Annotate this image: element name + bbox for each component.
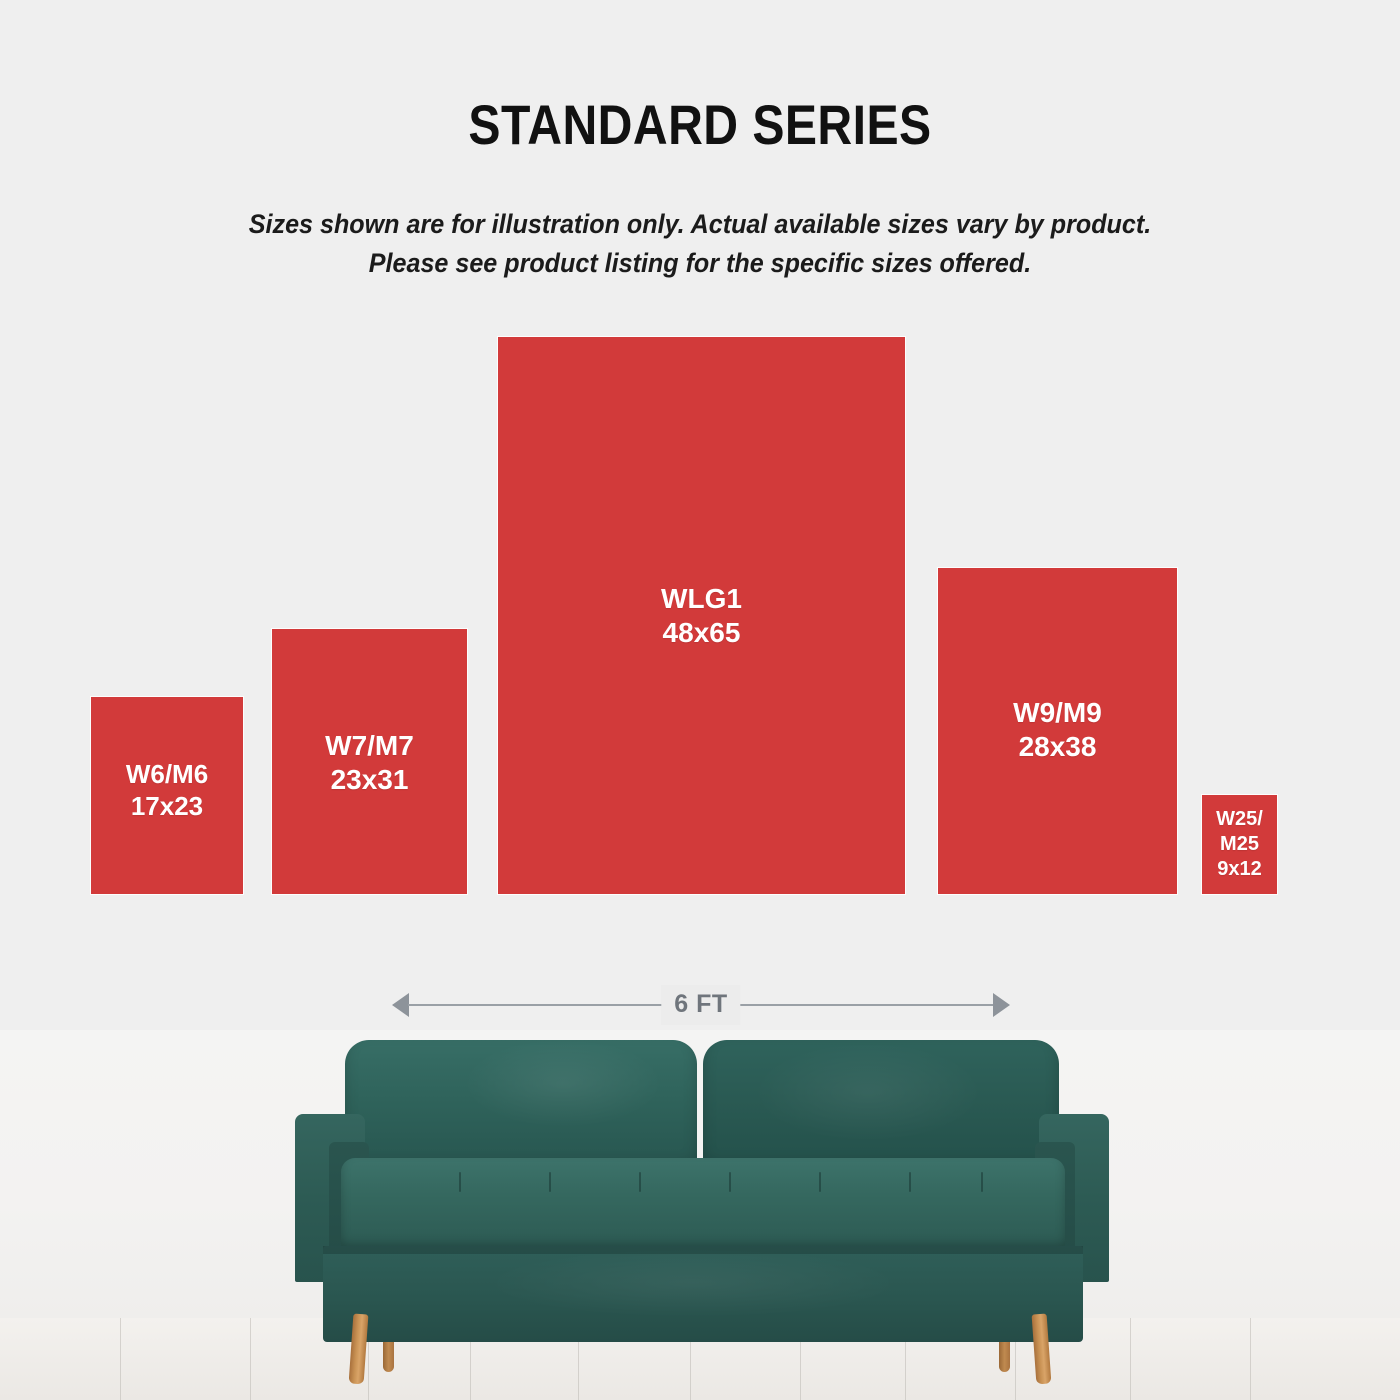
sofa-back-cushion-left <box>345 1040 697 1172</box>
size-comparison-graphic: STANDARD SERIES Sizes shown are for illu… <box>0 0 1400 1400</box>
size-panel-code: W9/M9 <box>1013 696 1102 730</box>
subtitle-line-2: Please see product listing for the speci… <box>49 244 1351 283</box>
size-panel-label: W6/M6 17x23 <box>126 759 208 822</box>
size-panel-dimensions: 17x23 <box>126 791 208 823</box>
size-panel-label: W9/M9 28x38 <box>1013 696 1102 764</box>
measurement-indicator: 6 FT <box>392 985 1010 1025</box>
size-panel-w25-m25[interactable]: W25/ M25 9x12 <box>1202 795 1277 894</box>
size-panel-wlg1[interactable]: WLG1 48x65 <box>498 337 905 894</box>
subtitle-line-1: Sizes shown are for illustration only. A… <box>49 205 1351 244</box>
size-panel-w9-m9[interactable]: W9/M9 28x38 <box>938 568 1177 894</box>
size-panel-label: WLG1 48x65 <box>661 582 742 650</box>
size-panel-code-line-1: W25/ <box>1216 807 1263 832</box>
page-title: STANDARD SERIES <box>98 96 1302 155</box>
room-scene <box>0 1030 1400 1400</box>
sofa-seat-cushion <box>341 1158 1065 1250</box>
size-panel-dimensions: 9x12 <box>1216 857 1263 882</box>
size-panel-w6-m6[interactable]: W6/M6 17x23 <box>91 697 243 894</box>
measurement-label: 6 FT <box>661 985 740 1025</box>
size-panel-label: W25/ M25 9x12 <box>1216 807 1263 882</box>
size-panel-w7-m7[interactable]: W7/M7 23x31 <box>272 629 467 894</box>
size-panel-dimensions: 23x31 <box>325 763 414 797</box>
sofa-back-cushion-right <box>703 1040 1059 1172</box>
subtitle-disclaimer: Sizes shown are for illustration only. A… <box>49 205 1351 283</box>
green-velvet-sofa <box>283 1038 1119 1378</box>
sofa-base <box>323 1246 1083 1342</box>
size-panel-code-line-2: M25 <box>1216 832 1263 857</box>
size-panel-dimensions: 48x65 <box>661 616 742 650</box>
size-panel-code: W6/M6 <box>126 759 208 791</box>
size-panel-dimensions: 28x38 <box>1013 730 1102 764</box>
size-panel-label: W7/M7 23x31 <box>325 729 414 797</box>
arrow-right-icon <box>993 993 1010 1017</box>
size-panel-code: WLG1 <box>661 582 742 616</box>
arrow-left-icon <box>392 993 409 1017</box>
size-panel-code: W7/M7 <box>325 729 414 763</box>
